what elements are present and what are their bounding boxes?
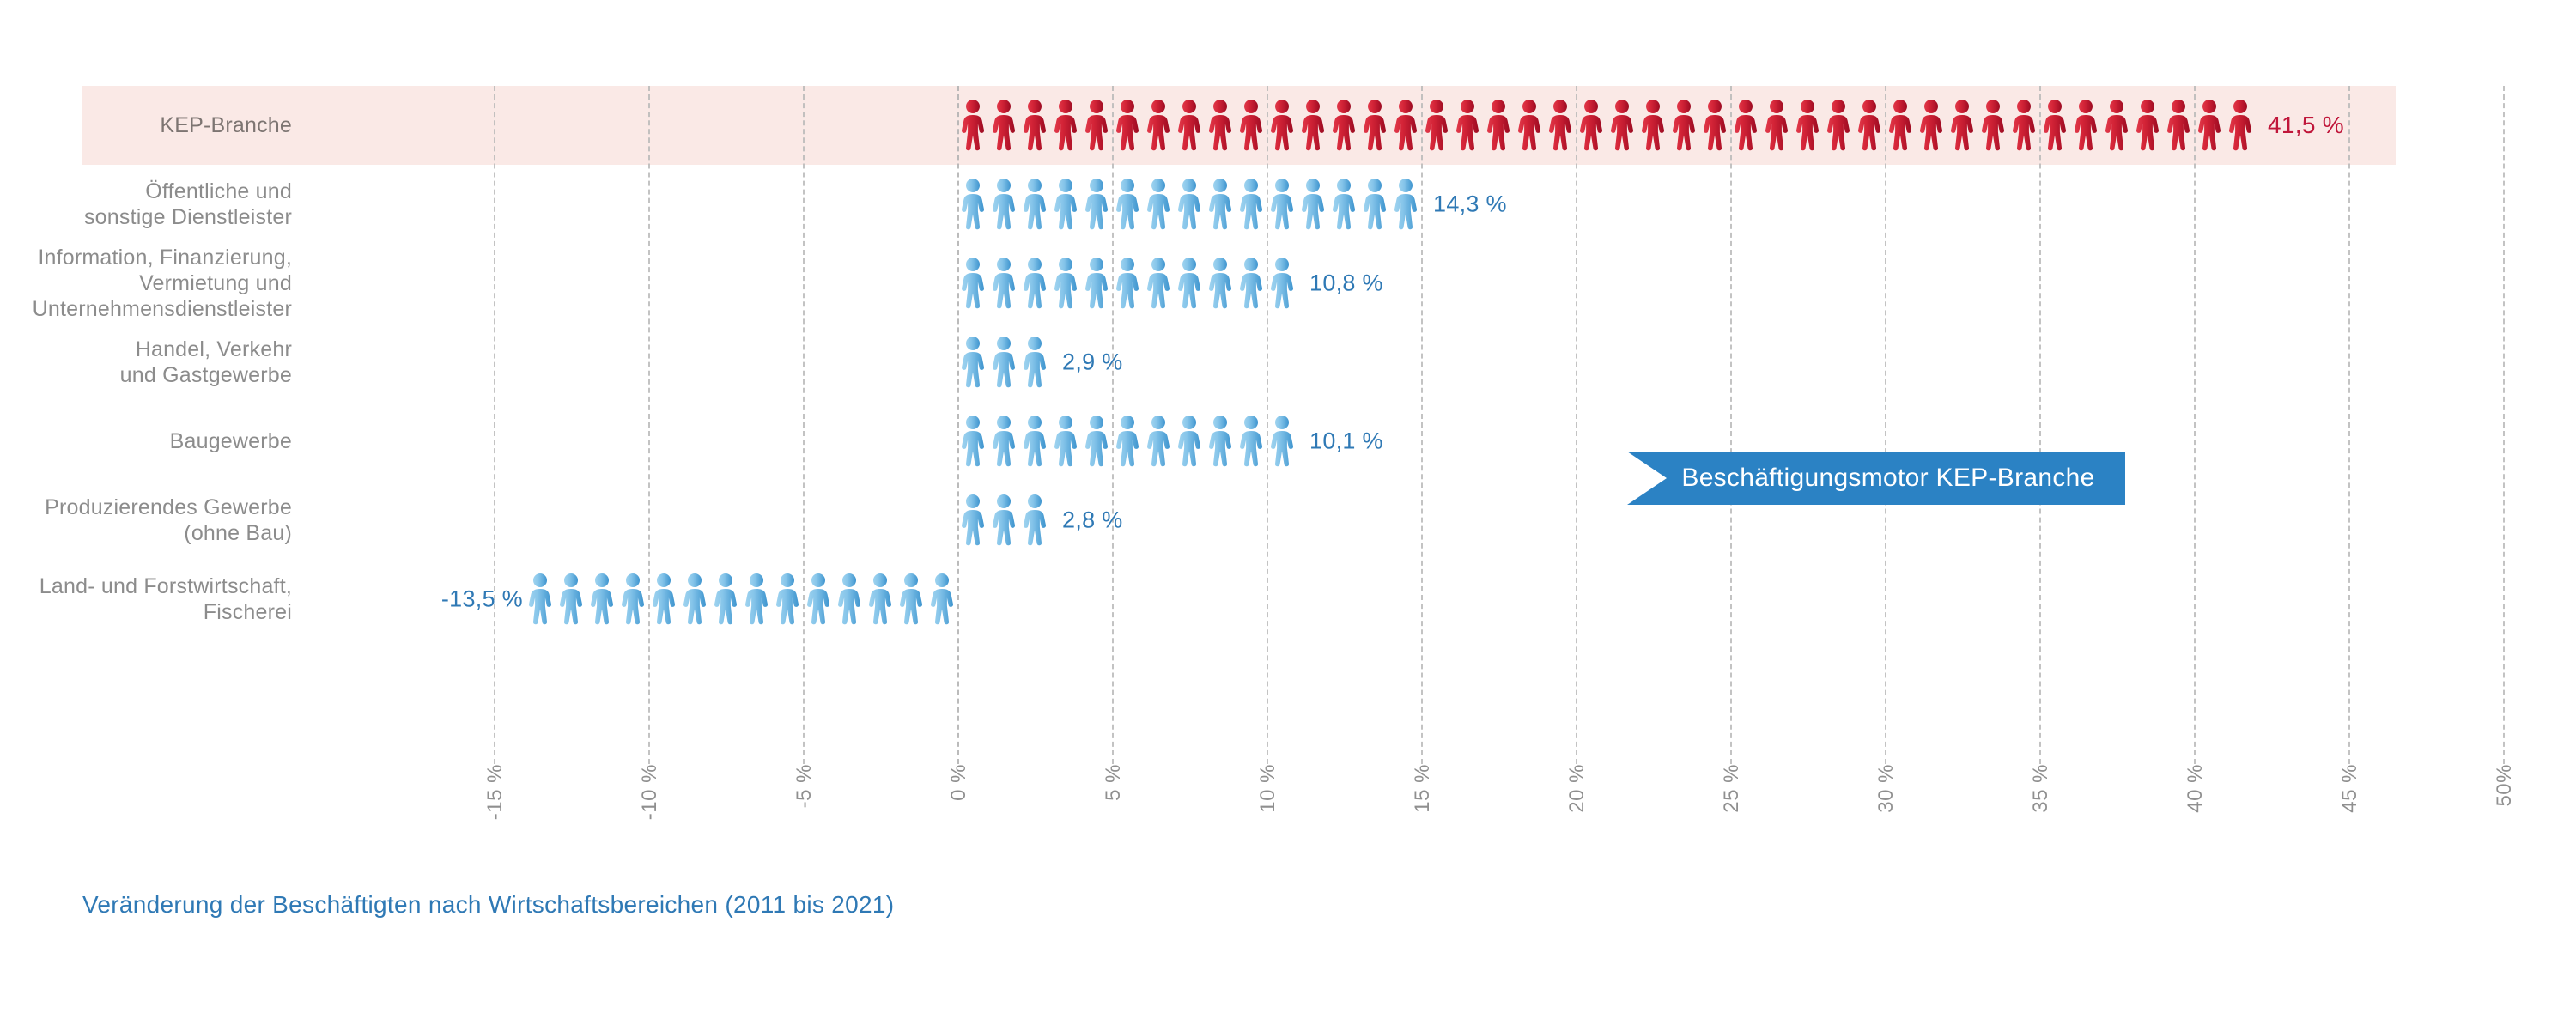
person-pictogram-red-icon bbox=[1545, 99, 1576, 152]
category-row: Baugewerbe10,1 % bbox=[82, 402, 2576, 481]
person-pictogram-blue-icon bbox=[988, 336, 1019, 389]
person-pictogram-red-icon bbox=[1483, 99, 1514, 152]
row-label: KEP-Branche bbox=[0, 112, 292, 138]
person-pictogram-red-icon bbox=[2039, 99, 2070, 152]
person-pictogram-red-icon bbox=[1514, 99, 1545, 152]
person-pictogram-blue-icon bbox=[1267, 178, 1297, 231]
person-pictogram-blue-icon bbox=[988, 178, 1019, 231]
row-label: Land- und Forstwirtschaft, Fischerei bbox=[0, 573, 292, 625]
person-pictogram-red-icon bbox=[2008, 99, 2039, 152]
person-pictogram-red-icon bbox=[1576, 99, 1607, 152]
person-pictogram-red-icon bbox=[1112, 99, 1143, 152]
person-pictogram-blue-icon bbox=[1112, 415, 1143, 468]
x-tick-label: 30 % bbox=[1874, 764, 1899, 813]
person-pictogram-red-icon bbox=[1390, 99, 1421, 152]
person-pictogram-red-icon bbox=[1297, 99, 1328, 152]
person-pictogram-red-icon bbox=[1143, 99, 1174, 152]
value-label: 2,9 % bbox=[1062, 349, 1123, 376]
person-pictogram-red-icon bbox=[1699, 99, 1730, 152]
person-pictogram-red-icon bbox=[2163, 99, 2194, 152]
person-pictogram-red-icon bbox=[988, 99, 1019, 152]
person-pictogram-blue-icon bbox=[1112, 178, 1143, 231]
person-pictogram-red-icon bbox=[1050, 99, 1081, 152]
chart-caption: Veränderung der Beschäftigten nach Wirts… bbox=[82, 891, 894, 919]
person-pictogram-blue-icon bbox=[1019, 415, 1050, 468]
person-pictogram-blue-icon bbox=[1050, 178, 1081, 231]
person-pictogram-blue-icon bbox=[988, 494, 1019, 547]
pictogram-group bbox=[957, 402, 1297, 481]
person-pictogram-red-icon bbox=[1668, 99, 1699, 152]
pictogram-group bbox=[957, 165, 1421, 244]
x-tick-label: -5 % bbox=[793, 764, 817, 808]
person-pictogram-red-icon bbox=[1267, 99, 1297, 152]
person-pictogram-blue-icon bbox=[865, 573, 896, 626]
person-pictogram-blue-icon bbox=[834, 573, 865, 626]
person-pictogram-blue-icon bbox=[1050, 415, 1081, 468]
category-row: Land- und Forstwirtschaft, Fischerei-13,… bbox=[82, 560, 2576, 639]
person-pictogram-blue-icon bbox=[710, 573, 741, 626]
row-label: Produzierendes Gewerbe (ohne Bau) bbox=[0, 494, 292, 546]
person-pictogram-blue-icon bbox=[988, 257, 1019, 310]
person-pictogram-blue-icon bbox=[1205, 178, 1236, 231]
person-pictogram-red-icon bbox=[1205, 99, 1236, 152]
category-row: KEP-Branche41,5 % bbox=[82, 86, 2576, 165]
person-pictogram-red-icon bbox=[1236, 99, 1267, 152]
person-pictogram-blue-icon bbox=[1174, 415, 1205, 468]
row-label: Handel, Verkehr und Gastgewerbe bbox=[0, 337, 292, 388]
person-pictogram-blue-icon bbox=[1081, 178, 1112, 231]
x-tick-label: -10 % bbox=[638, 764, 662, 820]
pictogram-group bbox=[957, 481, 1050, 560]
pictogram-chart: KEP-Branche41,5 %Öffentliche und sonstig… bbox=[0, 0, 2576, 1013]
person-pictogram-red-icon bbox=[1823, 99, 1854, 152]
person-pictogram-red-icon bbox=[1885, 99, 1916, 152]
value-label: 14,3 % bbox=[1433, 191, 1507, 218]
person-pictogram-blue-icon bbox=[1050, 257, 1081, 310]
person-pictogram-blue-icon bbox=[1267, 415, 1297, 468]
x-tick-label: 25 % bbox=[1720, 764, 1744, 813]
person-pictogram-blue-icon bbox=[679, 573, 710, 626]
x-axis: -15 %-10 %-5 %0 %5 %10 %15 %20 %25 %30 %… bbox=[82, 764, 2576, 876]
callout-banner-text: Beschäftigungsmotor KEP-Branche bbox=[1681, 464, 2094, 493]
pictogram-group bbox=[540, 560, 957, 639]
x-tick-label: 20 % bbox=[1565, 764, 1589, 813]
person-pictogram-blue-icon bbox=[1019, 257, 1050, 310]
person-pictogram-red-icon bbox=[1947, 99, 1978, 152]
person-pictogram-blue-icon bbox=[1236, 415, 1267, 468]
person-pictogram-blue-icon bbox=[1081, 257, 1112, 310]
person-pictogram-red-icon bbox=[1328, 99, 1359, 152]
person-pictogram-blue-icon bbox=[617, 573, 648, 626]
value-label: 2,8 % bbox=[1062, 507, 1123, 534]
person-pictogram-blue-icon bbox=[1081, 415, 1112, 468]
person-pictogram-blue-icon bbox=[1236, 178, 1267, 231]
person-pictogram-blue-icon bbox=[648, 573, 679, 626]
person-pictogram-blue-icon bbox=[1297, 178, 1328, 231]
person-pictogram-blue-icon bbox=[1019, 178, 1050, 231]
person-pictogram-red-icon bbox=[2132, 99, 2163, 152]
value-label: 10,8 % bbox=[1309, 270, 1383, 297]
value-label: 10,1 % bbox=[1309, 428, 1383, 455]
person-pictogram-red-icon bbox=[1452, 99, 1483, 152]
person-pictogram-blue-icon bbox=[957, 257, 988, 310]
value-label: 41,5 % bbox=[2268, 112, 2344, 139]
person-pictogram-red-icon bbox=[1792, 99, 1823, 152]
person-pictogram-blue-icon bbox=[1112, 257, 1143, 310]
person-pictogram-blue-icon bbox=[1174, 257, 1205, 310]
pictogram-group bbox=[957, 86, 2256, 165]
person-pictogram-blue-icon bbox=[957, 415, 988, 468]
x-tick-label: 10 % bbox=[1256, 764, 1280, 813]
person-pictogram-red-icon bbox=[1607, 99, 1637, 152]
person-pictogram-blue-icon bbox=[556, 573, 586, 626]
person-pictogram-blue-icon bbox=[803, 573, 834, 626]
person-pictogram-blue-icon bbox=[1205, 415, 1236, 468]
person-pictogram-blue-icon bbox=[1174, 178, 1205, 231]
person-pictogram-red-icon bbox=[1019, 99, 1050, 152]
person-pictogram-blue-icon bbox=[525, 573, 556, 626]
person-pictogram-red-icon bbox=[2194, 99, 2225, 152]
callout-banner: Beschäftigungsmotor KEP-Branche bbox=[1627, 452, 2125, 505]
row-label: Öffentliche und sonstige Dienstleister bbox=[0, 179, 292, 230]
person-pictogram-red-icon bbox=[1359, 99, 1390, 152]
x-tick-label: -15 % bbox=[483, 764, 507, 820]
person-pictogram-blue-icon bbox=[772, 573, 803, 626]
person-pictogram-blue-icon bbox=[896, 573, 927, 626]
person-pictogram-blue-icon bbox=[1019, 336, 1050, 389]
person-pictogram-red-icon bbox=[1761, 99, 1792, 152]
person-pictogram-blue-icon bbox=[957, 336, 988, 389]
person-pictogram-red-icon bbox=[1854, 99, 1885, 152]
person-pictogram-red-icon bbox=[1978, 99, 2008, 152]
person-pictogram-blue-icon bbox=[1328, 178, 1359, 231]
row-label: Baugewerbe bbox=[0, 428, 292, 454]
person-pictogram-blue-icon bbox=[957, 178, 988, 231]
person-pictogram-red-icon bbox=[2070, 99, 2101, 152]
person-pictogram-red-icon bbox=[1730, 99, 1761, 152]
category-row: Öffentliche und sonstige Dienstleister14… bbox=[82, 165, 2576, 244]
x-tick-label: 45 % bbox=[2338, 764, 2362, 813]
person-pictogram-blue-icon bbox=[1143, 257, 1174, 310]
person-pictogram-red-icon bbox=[1916, 99, 1947, 152]
value-label: -13,5 % bbox=[428, 586, 523, 613]
person-pictogram-blue-icon bbox=[1143, 178, 1174, 231]
x-tick-label: 40 % bbox=[2184, 764, 2208, 813]
row-label: Information, Finanzierung, Vermietung un… bbox=[0, 245, 292, 322]
category-row: Handel, Verkehr und Gastgewerbe2,9 % bbox=[82, 323, 2576, 402]
person-pictogram-blue-icon bbox=[988, 415, 1019, 468]
person-pictogram-red-icon bbox=[1421, 99, 1452, 152]
person-pictogram-blue-icon bbox=[1019, 494, 1050, 547]
x-tick-label: 15 % bbox=[1411, 764, 1435, 813]
pictogram-group bbox=[957, 323, 1050, 402]
person-pictogram-blue-icon bbox=[927, 573, 957, 626]
person-pictogram-red-icon bbox=[1637, 99, 1668, 152]
person-pictogram-red-icon bbox=[957, 99, 988, 152]
category-row: Produzierendes Gewerbe (ohne Bau)2,8 % bbox=[82, 481, 2576, 560]
person-pictogram-blue-icon bbox=[1359, 178, 1390, 231]
person-pictogram-blue-icon bbox=[741, 573, 772, 626]
person-pictogram-red-icon bbox=[1081, 99, 1112, 152]
x-tick-label: 50% bbox=[2493, 764, 2517, 807]
x-tick-label: 0 % bbox=[947, 764, 971, 801]
category-row: Information, Finanzierung, Vermietung un… bbox=[82, 244, 2576, 323]
person-pictogram-red-icon bbox=[2101, 99, 2132, 152]
x-tick-label: 5 % bbox=[1102, 764, 1126, 801]
person-pictogram-blue-icon bbox=[1236, 257, 1267, 310]
person-pictogram-blue-icon bbox=[1143, 415, 1174, 468]
person-pictogram-red-icon bbox=[1174, 99, 1205, 152]
plot-area: KEP-Branche41,5 %Öffentliche und sonstig… bbox=[82, 86, 2576, 764]
person-pictogram-blue-icon bbox=[1267, 257, 1297, 310]
person-pictogram-blue-icon bbox=[957, 494, 988, 547]
pictogram-group bbox=[957, 244, 1297, 323]
x-tick-label: 35 % bbox=[2029, 764, 2053, 813]
person-pictogram-blue-icon bbox=[1205, 257, 1236, 310]
person-pictogram-blue-icon bbox=[1390, 178, 1421, 231]
person-pictogram-red-icon bbox=[2225, 99, 2256, 152]
person-pictogram-blue-icon bbox=[586, 573, 617, 626]
